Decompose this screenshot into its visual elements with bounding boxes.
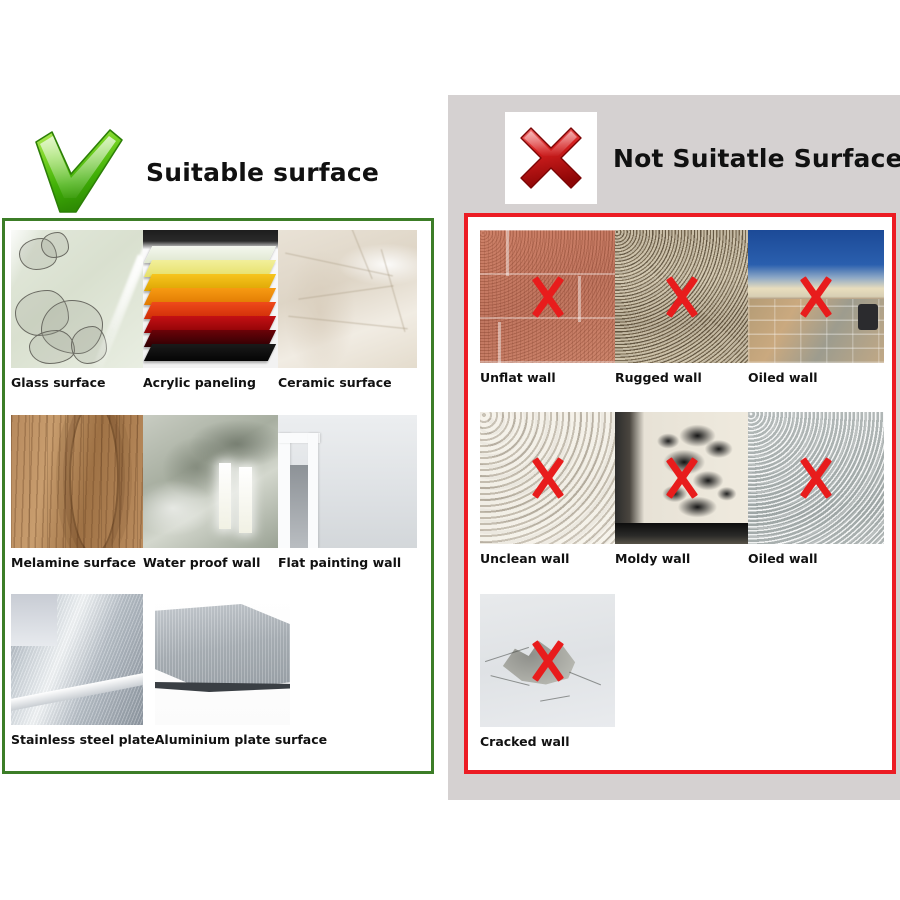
- suitable-row-3: Stainless steel plate Aluminium plate su…: [11, 594, 327, 747]
- unclean-wall-photo: [480, 412, 615, 544]
- suitable-item-water-proof-wall[interactable]: Water proof wall: [143, 415, 278, 570]
- stainless-steel-plate-photo: [11, 594, 143, 725]
- x-mark-overlay: [659, 455, 705, 501]
- not-suitable-title: Not Suitatle Surface: [613, 144, 900, 173]
- suitable-item-acrylic-paneling[interactable]: Acrylic paneling: [143, 230, 278, 390]
- suitable-item-label: Stainless steel plate: [11, 732, 155, 747]
- not-suitable-section-header: Not Suitatle Surface: [505, 112, 900, 204]
- suitable-item-label: Melamine surface: [11, 555, 143, 570]
- not-suitable-item-label: Moldy wall: [615, 551, 748, 566]
- not-suitable-item-label: Unclean wall: [480, 551, 615, 566]
- suitable-item-melamine-surface[interactable]: Melamine surface: [11, 415, 143, 570]
- flat-painting-wall-photo: [278, 415, 417, 548]
- suitable-item-ceramic-surface[interactable]: Ceramic surface: [278, 230, 417, 390]
- not-suitable-item-label: Oiled wall: [748, 551, 884, 566]
- not-suitable-item-label: Unflat wall: [480, 370, 615, 385]
- not-suitable-item-moldy-wall[interactable]: Moldy wall: [615, 412, 748, 566]
- unflat-brick-wall-photo: [480, 230, 615, 363]
- moldy-wall-photo: [615, 412, 748, 544]
- suitable-item-label: Ceramic surface: [278, 375, 417, 390]
- ceramic-surface-photo: [278, 230, 417, 368]
- not-suitable-item-oiled-wall[interactable]: Oiled wall: [748, 230, 884, 385]
- suitable-item-glass-surface[interactable]: Glass surface: [11, 230, 143, 390]
- cracked-wall-photo: [480, 594, 615, 727]
- oiled-wall-photo: [748, 230, 884, 363]
- suitable-item-label: Glass surface: [11, 375, 143, 390]
- not-suitable-item-label: Oiled wall: [748, 370, 884, 385]
- not-suitable-item-unflat-wall[interactable]: Unflat wall: [480, 230, 615, 385]
- aluminium-plate-surface-photo: [155, 594, 290, 725]
- suitable-item-label: Aluminium plate surface: [155, 732, 327, 747]
- not-suitable-item-unclean-wall[interactable]: Unclean wall: [480, 412, 615, 566]
- x-mark-overlay: [525, 274, 571, 320]
- water-proof-wall-photo: [143, 415, 278, 548]
- not-suitable-item-cracked-wall[interactable]: Cracked wall: [480, 594, 615, 749]
- not-suitable-item-rugged-wall[interactable]: Rugged wall: [615, 230, 748, 385]
- not-suitable-row-1: Unflat wall Rugged wall Oiled wall: [480, 230, 884, 385]
- suitable-item-aluminium-plate-surface[interactable]: Aluminium plate surface: [155, 594, 327, 747]
- oiled-wall-2-photo: [748, 412, 884, 544]
- not-suitable-item-label: Rugged wall: [615, 370, 748, 385]
- melamine-surface-photo: [11, 415, 143, 548]
- suitable-row-1: Glass surface Acrylic paneling Ceramic s…: [11, 230, 417, 390]
- suitable-item-stainless-steel-plate[interactable]: Stainless steel plate: [11, 594, 155, 747]
- suitable-title: Suitable surface: [146, 158, 379, 187]
- x-mark-overlay: [525, 455, 571, 501]
- acrylic-paneling-photo: [143, 230, 278, 368]
- not-suitable-row-2: Unclean wall Moldy wall Oiled wall: [480, 412, 884, 566]
- green-check-icon: [26, 128, 126, 216]
- suitable-item-label: Acrylic paneling: [143, 375, 278, 390]
- not-suitable-item-oiled-wall-2[interactable]: Oiled wall: [748, 412, 884, 566]
- not-suitable-row-3: Cracked wall: [480, 594, 615, 749]
- suitable-item-label: Water proof wall: [143, 555, 278, 570]
- suitable-item-flat-painting-wall[interactable]: Flat painting wall: [278, 415, 417, 570]
- glass-surface-photo: [11, 230, 143, 368]
- suitable-item-label: Flat painting wall: [278, 555, 417, 570]
- suitable-row-2: Melamine surface Water proof wall Flat p…: [11, 415, 417, 570]
- x-mark-overlay: [793, 455, 839, 501]
- suitable-section-header: Suitable surface: [26, 128, 379, 216]
- rugged-wall-photo: [615, 230, 748, 363]
- red-cross-icon: [505, 112, 597, 204]
- x-mark-overlay: [659, 274, 705, 320]
- not-suitable-item-label: Cracked wall: [480, 734, 615, 749]
